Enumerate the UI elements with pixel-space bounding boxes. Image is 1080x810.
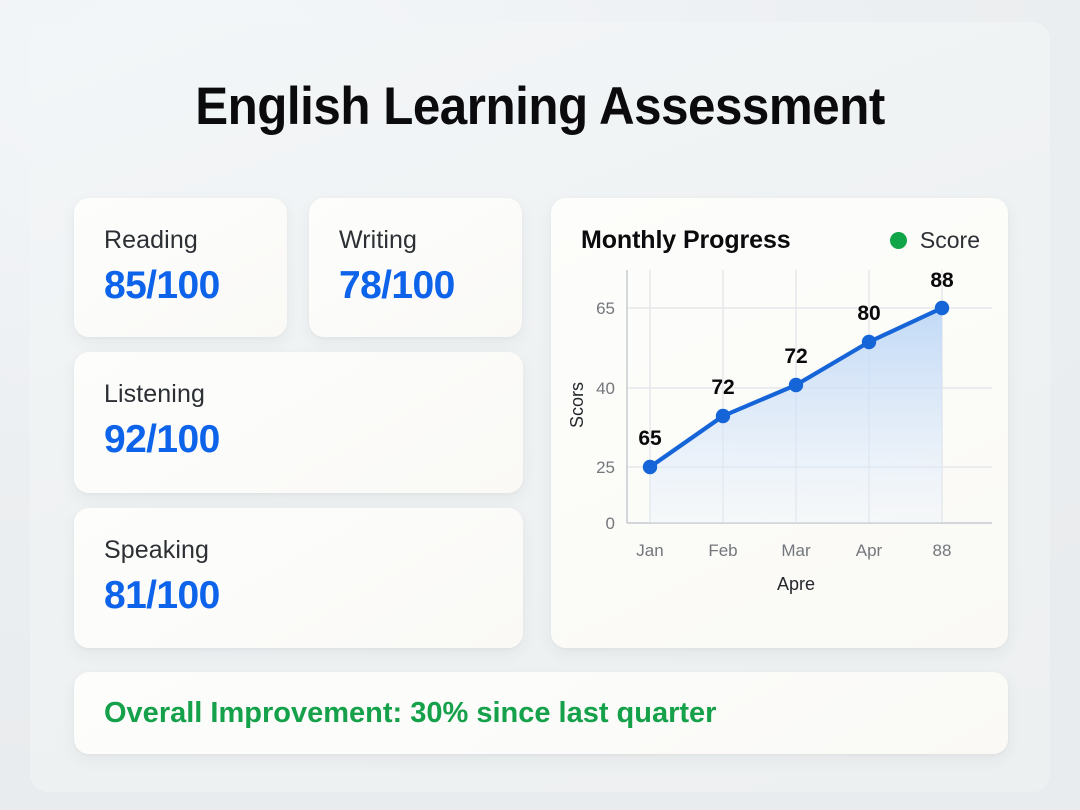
legend-dot-icon bbox=[890, 232, 907, 249]
scores-column: Reading 85/100 Writing 78/100 Listening … bbox=[74, 198, 523, 648]
xtick-label-1: Feb bbox=[708, 541, 737, 560]
main-content: Reading 85/100 Writing 78/100 Listening … bbox=[74, 198, 1008, 648]
xtick-label-4: 88 bbox=[933, 541, 952, 560]
data-label-2: 72 bbox=[784, 345, 807, 368]
score-label-speaking: Speaking bbox=[104, 536, 493, 565]
chart-plot-area: 65 72 72 80 88 65 40 25 0 Jan Feb Mar Ap… bbox=[551, 260, 1008, 648]
score-value-listening: 92/100 bbox=[104, 418, 493, 462]
legend-label-score: Score bbox=[920, 227, 980, 254]
overall-improvement-banner: Overall Improvement: 30% since last quar… bbox=[74, 672, 1008, 754]
data-label-1: 72 bbox=[711, 376, 734, 399]
chart-header: Monthly Progress Score bbox=[581, 226, 980, 255]
data-point-last[interactable] bbox=[935, 301, 949, 315]
x-axis-title: Apre bbox=[777, 574, 815, 594]
ytick-label-0: 0 bbox=[606, 514, 615, 533]
y-axis-title: Scors bbox=[567, 382, 587, 428]
monthly-progress-panel: Monthly Progress Score bbox=[551, 198, 1008, 648]
line-chart-svg[interactable]: 65 72 72 80 88 65 40 25 0 Jan Feb Mar Ap… bbox=[551, 260, 1008, 648]
overall-improvement-text: Overall Improvement: 30% since last quar… bbox=[104, 697, 716, 730]
data-label-4: 88 bbox=[930, 269, 954, 292]
ytick-label-25: 25 bbox=[596, 458, 615, 477]
page-title: English Learning Assessment bbox=[38, 76, 1042, 137]
xtick-label-2: Mar bbox=[781, 541, 811, 560]
ytick-label-65: 65 bbox=[596, 299, 615, 318]
chart-legend[interactable]: Score bbox=[890, 227, 980, 254]
data-point-jan[interactable] bbox=[643, 460, 657, 474]
score-value-writing: 78/100 bbox=[339, 264, 492, 308]
data-label-3: 80 bbox=[857, 302, 880, 325]
chart-title: Monthly Progress bbox=[581, 226, 791, 255]
score-card-listening[interactable]: Listening 92/100 bbox=[74, 352, 523, 492]
score-card-speaking[interactable]: Speaking 81/100 bbox=[74, 508, 523, 648]
score-label-listening: Listening bbox=[104, 380, 493, 409]
score-value-reading: 85/100 bbox=[104, 264, 257, 308]
xtick-label-3: Apr bbox=[856, 541, 883, 560]
data-point-mar[interactable] bbox=[789, 378, 803, 392]
data-point-apr[interactable] bbox=[862, 335, 876, 349]
data-point-feb[interactable] bbox=[716, 409, 730, 423]
xtick-label-0: Jan bbox=[636, 541, 663, 560]
ytick-label-40: 40 bbox=[596, 379, 615, 398]
score-value-speaking: 81/100 bbox=[104, 574, 493, 618]
score-card-writing[interactable]: Writing 78/100 bbox=[309, 198, 522, 337]
data-label-0: 65 bbox=[638, 427, 662, 450]
score-label-reading: Reading bbox=[104, 226, 257, 255]
score-card-reading[interactable]: Reading 85/100 bbox=[74, 198, 287, 337]
scores-top-row: Reading 85/100 Writing 78/100 bbox=[74, 198, 523, 337]
score-label-writing: Writing bbox=[339, 226, 492, 255]
